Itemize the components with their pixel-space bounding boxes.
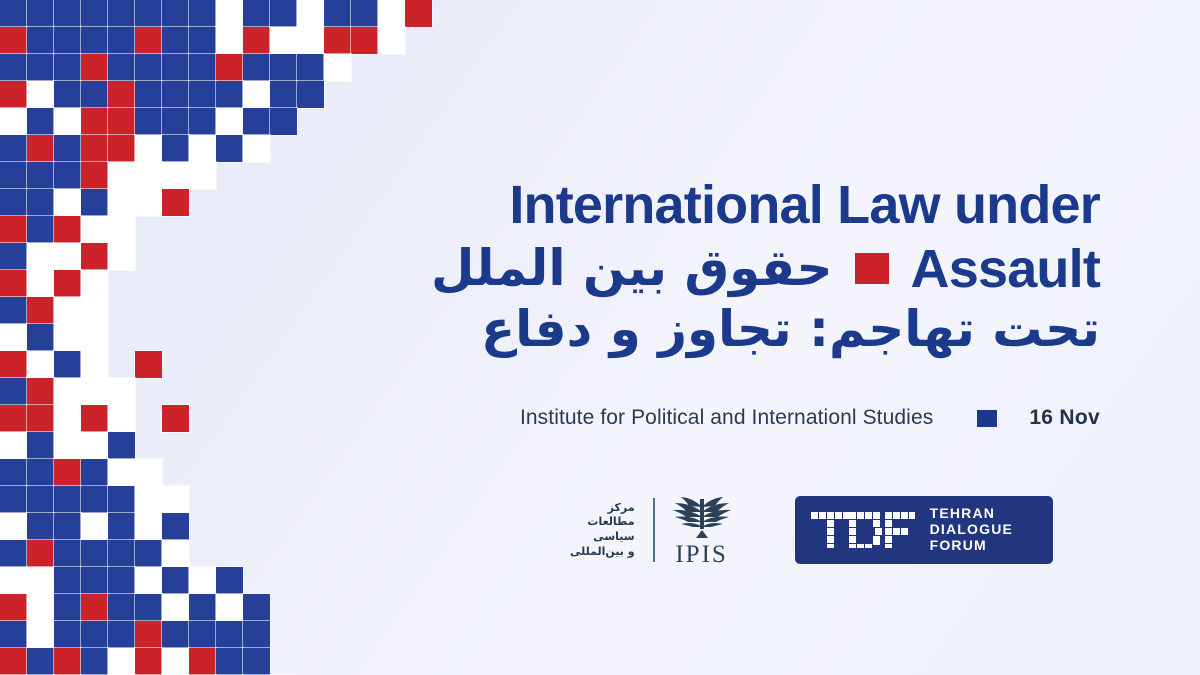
mosaic-cell bbox=[81, 621, 108, 648]
tdf-word-3: FORUM bbox=[930, 538, 1014, 554]
tdf-word-2: DIALOGUE bbox=[930, 522, 1014, 538]
mosaic-cell bbox=[81, 594, 108, 621]
mosaic-cell bbox=[243, 108, 270, 135]
mosaic-cell bbox=[162, 27, 189, 54]
mosaic-cell bbox=[81, 513, 108, 540]
mosaic-cell bbox=[243, 81, 270, 108]
mosaic-cell bbox=[135, 135, 162, 162]
mosaic-cell bbox=[135, 459, 162, 486]
mosaic-cell bbox=[27, 378, 54, 405]
mosaic-cell bbox=[135, 486, 162, 513]
mosaic-cell bbox=[108, 648, 135, 675]
mosaic-cell bbox=[243, 594, 270, 621]
mosaic-cell bbox=[54, 378, 81, 405]
mosaic-cell bbox=[108, 432, 135, 459]
mosaic-cell bbox=[135, 0, 162, 27]
mosaic-cell bbox=[0, 0, 27, 27]
mosaic-cell bbox=[27, 27, 54, 54]
mosaic-cell bbox=[270, 27, 297, 54]
mosaic-cell bbox=[0, 648, 27, 675]
mosaic-cell bbox=[189, 0, 216, 27]
mosaic-cell bbox=[108, 0, 135, 27]
ipis-logo: مرکز مطالعات سیاسی و بین‌المللی bbox=[570, 487, 733, 573]
mosaic-cell bbox=[0, 513, 27, 540]
headline-en-line2: Assault bbox=[911, 238, 1100, 300]
mosaic-cell bbox=[0, 486, 27, 513]
mosaic-cell bbox=[0, 108, 27, 135]
mosaic-cell bbox=[27, 459, 54, 486]
mosaic-cell bbox=[162, 486, 189, 513]
mosaic-cell bbox=[135, 27, 162, 54]
mosaic-cell bbox=[54, 108, 81, 135]
mosaic-cell bbox=[216, 27, 243, 54]
mosaic-cell bbox=[54, 459, 81, 486]
mosaic-cell bbox=[81, 648, 108, 675]
mosaic-cell bbox=[162, 0, 189, 27]
mosaic-cell bbox=[0, 27, 27, 54]
mosaic-cell bbox=[216, 135, 243, 162]
mosaic-cell bbox=[189, 108, 216, 135]
divider bbox=[653, 498, 655, 562]
mosaic-cell bbox=[189, 594, 216, 621]
mosaic-cell bbox=[108, 135, 135, 162]
mosaic-cell bbox=[162, 648, 189, 675]
mosaic-cell bbox=[216, 0, 243, 27]
mosaic-cell bbox=[81, 378, 108, 405]
mosaic-cell bbox=[270, 81, 297, 108]
mosaic-cell bbox=[162, 108, 189, 135]
mosaic-cell bbox=[0, 459, 27, 486]
mosaic-cell bbox=[54, 486, 81, 513]
mosaic-cell bbox=[108, 567, 135, 594]
mosaic-cell bbox=[162, 567, 189, 594]
blue-square-accent bbox=[977, 410, 997, 427]
mosaic-cell bbox=[135, 513, 162, 540]
mosaic-cell bbox=[162, 594, 189, 621]
ipis-wordmark: IPIS bbox=[675, 542, 727, 567]
mosaic-cell bbox=[135, 567, 162, 594]
event-date: 16 Nov bbox=[1029, 406, 1100, 430]
mosaic-cell bbox=[81, 459, 108, 486]
headline-line2-row: حقوق بین الملل Assault bbox=[0, 238, 1100, 300]
mosaic-cell bbox=[189, 648, 216, 675]
ipis-fa-line-1: مرکز bbox=[570, 501, 635, 516]
mosaic-cell bbox=[54, 540, 81, 567]
mosaic-cell bbox=[0, 135, 27, 162]
mosaic-cell bbox=[351, 27, 378, 54]
mosaic-cell bbox=[81, 486, 108, 513]
tdf-logo: TEHRAN DIALOGUE FORUM bbox=[795, 496, 1053, 564]
mosaic-cell bbox=[0, 378, 27, 405]
mosaic-cell bbox=[108, 486, 135, 513]
mosaic-cell bbox=[27, 135, 54, 162]
mosaic-cell bbox=[189, 54, 216, 81]
mosaic-cell bbox=[135, 648, 162, 675]
mosaic-cell bbox=[0, 621, 27, 648]
mosaic-cell bbox=[27, 594, 54, 621]
mosaic-cell bbox=[27, 0, 54, 27]
mosaic-cell bbox=[108, 459, 135, 486]
mosaic-cell bbox=[0, 594, 27, 621]
mosaic-cell bbox=[162, 135, 189, 162]
mosaic-cell bbox=[243, 0, 270, 27]
mosaic-cell bbox=[216, 567, 243, 594]
mosaic-cell bbox=[108, 81, 135, 108]
mosaic-cell bbox=[27, 108, 54, 135]
mosaic-cell bbox=[405, 0, 432, 27]
mosaic-cell bbox=[243, 648, 270, 675]
mosaic-cell bbox=[216, 108, 243, 135]
mosaic-cell bbox=[135, 108, 162, 135]
mosaic-cell bbox=[0, 54, 27, 81]
mosaic-cell bbox=[324, 27, 351, 54]
mosaic-cell bbox=[324, 54, 351, 81]
mosaic-cell bbox=[27, 81, 54, 108]
mosaic-cell bbox=[108, 540, 135, 567]
mosaic-cell bbox=[108, 621, 135, 648]
mosaic-cell bbox=[162, 81, 189, 108]
mosaic-cell bbox=[243, 621, 270, 648]
headline-fa-line2: تحت تهاجم: تجاوز و دفاع bbox=[0, 302, 1100, 357]
mosaic-cell bbox=[81, 135, 108, 162]
mosaic-cell bbox=[162, 621, 189, 648]
mosaic-cell bbox=[189, 135, 216, 162]
mosaic-cell bbox=[108, 54, 135, 81]
mosaic-cell bbox=[27, 513, 54, 540]
mosaic-cell bbox=[216, 594, 243, 621]
mosaic-cell bbox=[27, 567, 54, 594]
mosaic-cell bbox=[108, 513, 135, 540]
mosaic-cell bbox=[27, 54, 54, 81]
mosaic-cell bbox=[270, 0, 297, 27]
mosaic-cell bbox=[162, 513, 189, 540]
mosaic-cell bbox=[108, 594, 135, 621]
mosaic-cell bbox=[54, 0, 81, 27]
mosaic-cell bbox=[216, 621, 243, 648]
mosaic-cell bbox=[54, 81, 81, 108]
ipis-fa-line-4: و بین‌المللی bbox=[570, 545, 635, 560]
ipis-fa-line-2: مطالعات bbox=[570, 515, 635, 530]
mosaic-cell bbox=[81, 540, 108, 567]
headline-en-line1: International Law under bbox=[0, 178, 1100, 234]
mosaic-cell bbox=[243, 54, 270, 81]
mosaic-cell bbox=[135, 594, 162, 621]
mosaic-cell bbox=[54, 513, 81, 540]
tdf-monogram-icon bbox=[811, 512, 915, 548]
mosaic-cell bbox=[162, 54, 189, 81]
tdf-word-1: TEHRAN bbox=[930, 506, 1014, 522]
event-banner: International Law under حقوق بین الملل A… bbox=[0, 0, 1200, 675]
organizer-name: Institute for Political and Internationl… bbox=[520, 406, 933, 430]
mosaic-cell bbox=[54, 567, 81, 594]
mosaic-cell bbox=[0, 540, 27, 567]
mosaic-cell bbox=[135, 540, 162, 567]
mosaic-cell bbox=[54, 27, 81, 54]
mosaic-cell bbox=[54, 432, 81, 459]
mosaic-cell bbox=[27, 486, 54, 513]
mosaic-cell bbox=[270, 108, 297, 135]
mosaic-cell bbox=[243, 135, 270, 162]
ipis-persian-name: مرکز مطالعات سیاسی و بین‌المللی bbox=[570, 501, 637, 559]
mosaic-cell bbox=[189, 81, 216, 108]
ipis-fa-line-3: سیاسی bbox=[570, 530, 635, 545]
mosaic-cell bbox=[135, 81, 162, 108]
mosaic-cell bbox=[216, 648, 243, 675]
mosaic-cell bbox=[297, 81, 324, 108]
mosaic-cell bbox=[81, 54, 108, 81]
mosaic-cell bbox=[54, 648, 81, 675]
headline-block: International Law under حقوق بین الملل A… bbox=[0, 178, 1100, 357]
mosaic-cell bbox=[27, 540, 54, 567]
mosaic-cell bbox=[27, 621, 54, 648]
headline-fa-line1: حقوق بین الملل bbox=[431, 242, 833, 295]
mosaic-cell bbox=[243, 27, 270, 54]
mosaic-cell bbox=[27, 648, 54, 675]
mosaic-cell bbox=[27, 432, 54, 459]
mosaic-cell bbox=[81, 567, 108, 594]
mosaic-cell bbox=[81, 27, 108, 54]
mosaic-cell bbox=[297, 27, 324, 54]
mosaic-cell bbox=[108, 378, 135, 405]
mosaic-cell bbox=[135, 621, 162, 648]
red-square-accent bbox=[855, 253, 889, 284]
mosaic-cell bbox=[54, 594, 81, 621]
logo-row: مرکز مطالعات سیاسی و بین‌المللی bbox=[570, 487, 1053, 573]
mosaic-cell bbox=[108, 27, 135, 54]
mosaic-cell bbox=[378, 27, 405, 54]
mosaic-cell bbox=[81, 81, 108, 108]
mosaic-cell bbox=[297, 54, 324, 81]
mosaic-cell bbox=[189, 621, 216, 648]
mosaic-cell bbox=[54, 54, 81, 81]
open-book-wheat-icon bbox=[671, 494, 733, 540]
mosaic-cell bbox=[54, 135, 81, 162]
tdf-wordmark: TEHRAN DIALOGUE FORUM bbox=[930, 506, 1014, 553]
mosaic-cell bbox=[54, 621, 81, 648]
mosaic-cell bbox=[216, 81, 243, 108]
mosaic-cell bbox=[189, 567, 216, 594]
mosaic-cell bbox=[81, 108, 108, 135]
mosaic-cell bbox=[378, 0, 405, 27]
mosaic-cell bbox=[324, 0, 351, 27]
mosaic-cell bbox=[0, 432, 27, 459]
mosaic-cell bbox=[216, 54, 243, 81]
mosaic-cell bbox=[0, 567, 27, 594]
mosaic-cell bbox=[297, 0, 324, 27]
mosaic-cell bbox=[135, 54, 162, 81]
mosaic-cell bbox=[270, 54, 297, 81]
mosaic-cell bbox=[81, 432, 108, 459]
ipis-emblem-group: IPIS bbox=[671, 494, 733, 567]
mosaic-cell bbox=[162, 540, 189, 567]
mosaic-cell bbox=[189, 27, 216, 54]
mosaic-cell bbox=[81, 0, 108, 27]
mosaic-cell bbox=[108, 108, 135, 135]
subtitle-row: Institute for Political and Internationl… bbox=[0, 406, 1100, 430]
mosaic-cell bbox=[351, 0, 378, 27]
mosaic-cell bbox=[0, 81, 27, 108]
